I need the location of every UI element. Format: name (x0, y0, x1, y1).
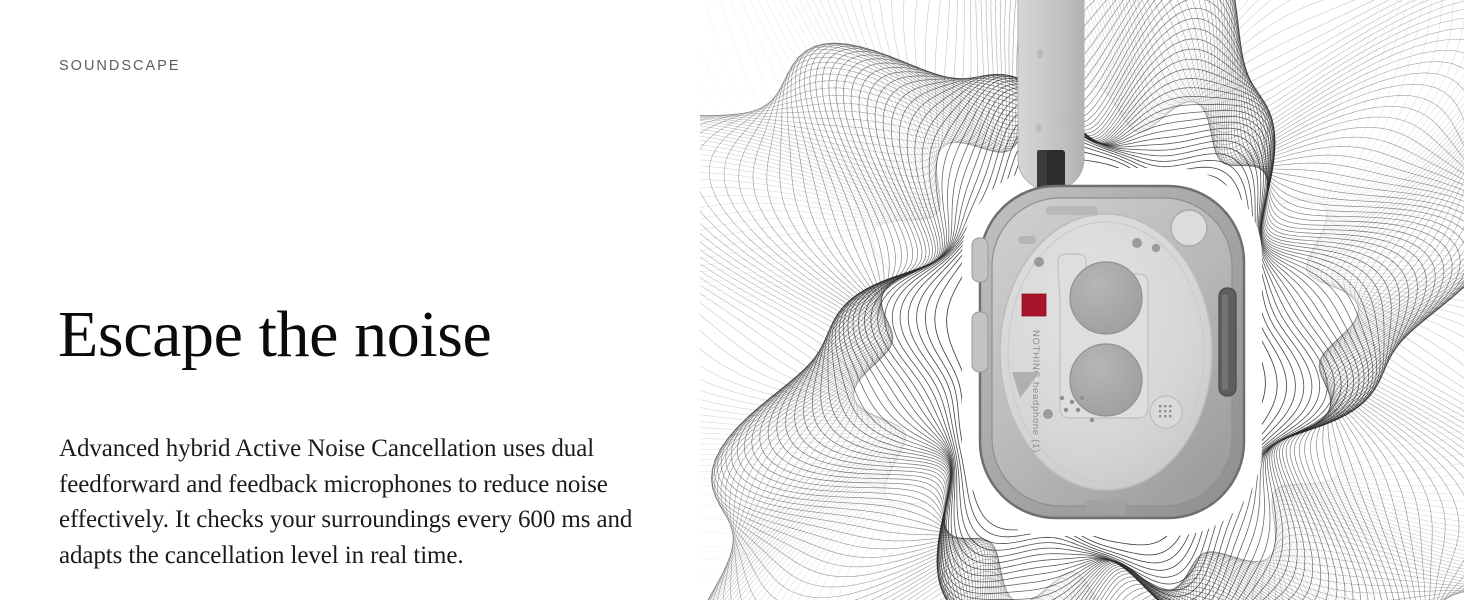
side-button-upper[interactable] (972, 238, 988, 282)
body-paragraph: Advanced hybrid Active Noise Cancellatio… (59, 431, 684, 573)
copy-column: SOUNDSCAPE Escape the noise Advanced hyb… (58, 0, 698, 600)
red-accent-block (1022, 294, 1046, 316)
section-eyebrow: SOUNDSCAPE (59, 58, 181, 74)
page-title: Escape the noise (58, 302, 491, 368)
product-stage: NOTHING headphone (1) (700, 0, 1464, 600)
roller-slider-control[interactable] (1219, 288, 1236, 396)
bottom-tab (1086, 500, 1126, 514)
power-button[interactable] (1171, 210, 1207, 246)
engraved-product-label: NOTHING headphone (1) (1030, 330, 1041, 453)
driver-lower (1070, 344, 1142, 416)
svg-text:NOTHING headphone (1): NOTHING headphone (1) (1030, 330, 1041, 453)
driver-upper (1070, 262, 1142, 334)
mesh-grille-port (1150, 396, 1182, 428)
side-button-lower[interactable] (972, 312, 988, 372)
headphone-earcup-image: NOTHING headphone (1) (700, 0, 1464, 600)
soundscape-feature-section: SOUNDSCAPE Escape the noise Advanced hyb… (0, 0, 1464, 600)
